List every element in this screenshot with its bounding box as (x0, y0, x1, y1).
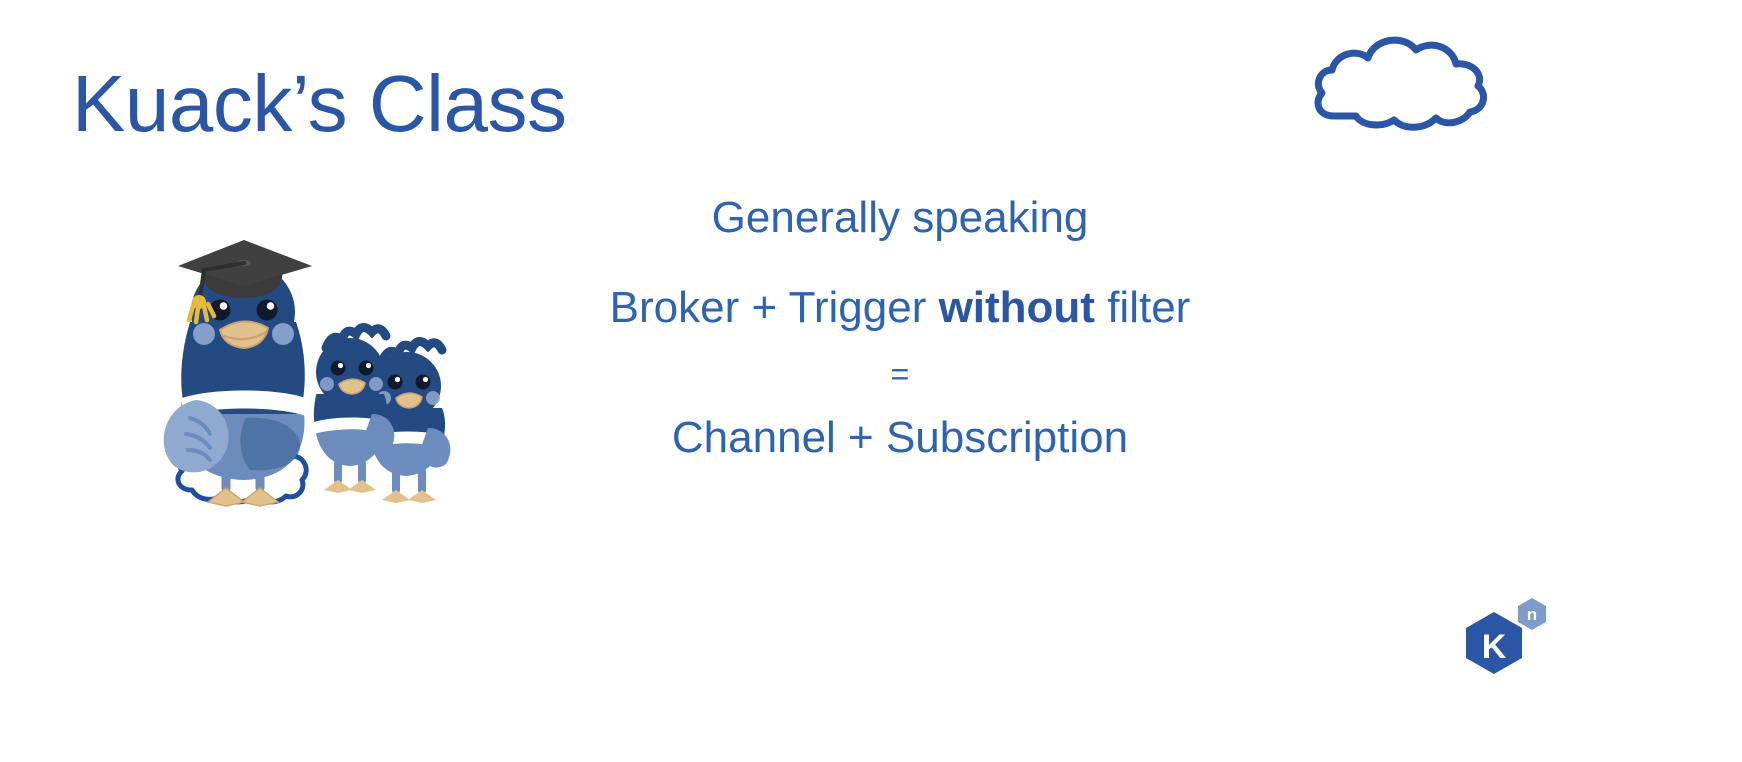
knative-logo-secondary-hex: n (1518, 598, 1546, 630)
slide-body: Generally speaking Broker + Trigger with… (520, 196, 1280, 460)
knative-logo: n K (1458, 588, 1554, 674)
slide-canvas: Kuack’s Class (0, 0, 1742, 762)
body-line-generally-speaking: Generally speaking (520, 196, 1280, 240)
broker-trigger-prefix: Broker + Trigger (610, 283, 939, 332)
without-emphasis: without (939, 283, 1095, 332)
knative-logo-n-letter: n (1527, 605, 1537, 624)
page-title: Kuack’s Class (72, 62, 566, 146)
three-birds-graduation-cap-illustration (160, 222, 510, 522)
knative-logo-k-letter: K (1482, 628, 1507, 666)
body-line-broker-trigger: Broker + Trigger without filter (520, 286, 1280, 330)
cloud-outline-icon (1312, 28, 1492, 138)
equals-sign: = (520, 358, 1280, 390)
filter-suffix: filter (1095, 283, 1190, 332)
body-line-channel-subscription: Channel + Subscription (520, 416, 1280, 460)
knative-logo-primary-hex: K (1466, 612, 1522, 674)
